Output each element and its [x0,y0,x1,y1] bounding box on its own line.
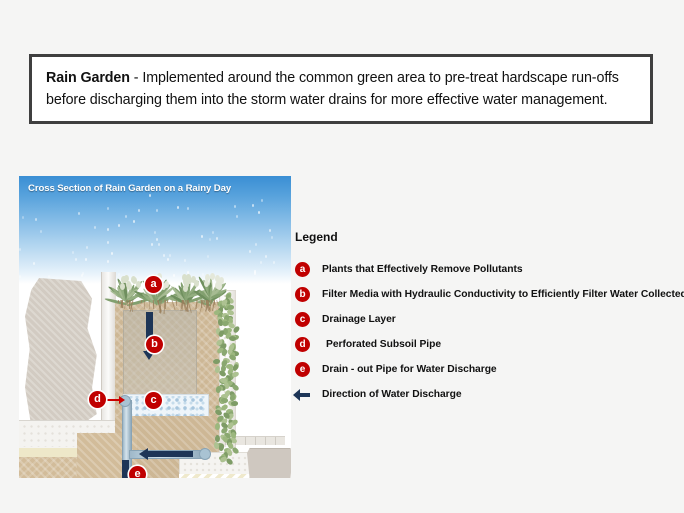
legend-item-e[interactable]: e Drain - out Pipe for Water Discharge [295,357,675,382]
callout-badge-b[interactable]: b [146,336,163,353]
arrow-left-shaft [299,393,310,397]
rain-drop [234,205,236,208]
rain-drop [169,254,171,257]
legend-label-e: Drain - out Pipe for Water Discharge [322,364,497,375]
vine-leaf [213,359,220,364]
drainage-gravel-layer [123,394,209,418]
callout-d-arrow-icon [119,396,125,404]
description-callout-box: Rain Garden - Implemented around the com… [29,54,653,124]
rain-drop [156,238,158,241]
rain-drop [125,215,127,218]
vine-leaf [214,423,221,431]
plant-root [216,300,219,305]
rain-drop [85,258,87,261]
plant-root [144,300,145,309]
rain-drop [255,243,257,246]
plant-root [117,300,118,304]
rain-drop [236,215,238,218]
filter-media-layer [123,310,197,396]
rain-drop [94,226,96,229]
drainout-arrow-shaft [122,460,129,478]
rain-drop [107,241,109,244]
arrow-left-head [293,389,300,401]
pipe-end-cap [199,448,211,460]
arrow-left-icon [295,387,310,402]
rain-drop [273,261,275,264]
cross-section-scene: a b c d e [19,268,291,478]
rain-drop [258,211,260,214]
legend-heading: Legend [295,230,675,244]
rain-drop [72,251,74,254]
rain-drop [209,238,211,241]
rain-drop [22,216,24,219]
plant-root [185,300,186,304]
legend-label-b: Filter Media with Hydraulic Conductivity… [322,289,684,300]
rain-drop [167,258,169,261]
rain-drop [184,259,186,262]
rain-drop [107,228,109,231]
rain-drop [133,220,135,223]
rain-garden-cross-section-illustration: Cross Section of Rain Garden on a Rainy … [19,176,291,478]
trailing-vines [215,292,241,460]
plant-root [121,300,122,305]
legend-item-direction[interactable]: Direction of Water Discharge [295,382,675,407]
legend-item-b[interactable]: b Filter Media with Hydraulic Conductivi… [295,282,675,307]
rain-drop [269,229,271,232]
plant-root [141,300,143,304]
rain-drop [156,209,158,212]
rain-drop [86,246,88,249]
callout-badge-e[interactable]: e [129,466,146,478]
illustration-title: Cross Section of Rain Garden on a Rainy … [28,183,231,194]
rain-drop [19,248,21,251]
description-body: - Implemented around the common green ar… [46,70,619,108]
discharge-arrow-shaft [147,451,193,457]
rain-drop [151,243,153,246]
rain-drop [35,218,37,221]
rain-drop [163,254,165,257]
legend-item-d[interactable]: d Perforated Subsoil Pipe [295,332,675,357]
callout-badge-a[interactable]: a [145,276,162,293]
rain-drop [177,206,179,209]
legend-badge-c: c [295,312,310,327]
plant-root [176,300,177,306]
rain-drop [207,255,209,258]
description-text: Rain Garden - Implemented around the com… [32,67,650,111]
discharge-arrow-head-icon [139,448,148,460]
legend-label-direction: Direction of Water Discharge [322,389,462,400]
rain-drop [33,262,35,265]
rain-drop [265,255,267,258]
rain-drop [271,236,273,239]
rain-drop [201,235,203,238]
vine-leaf [231,371,239,378]
rain-drop [138,209,140,212]
rain-drop [118,224,120,227]
legend-badge-d: d [295,337,310,352]
rain-drop [107,207,109,210]
plant-root [152,300,153,309]
legend-label-d: Perforated Subsoil Pipe [326,339,441,350]
rain-drop [78,212,80,215]
legend-item-a[interactable]: a Plants that Effectively Remove Polluta… [295,257,675,282]
rain-drop [111,252,113,255]
callout-badge-c[interactable]: c [145,392,162,409]
rain-drop [149,194,151,197]
plant-roots [117,300,221,314]
description-title: Rain Garden [46,70,130,86]
rain-drop [75,258,77,261]
legend-label-a: Plants that Effectively Remove Pollutant… [322,264,523,275]
legend-panel: Legend a Plants that Effectively Remove … [295,230,675,407]
rain-drop [260,261,262,264]
rain-drop [187,207,189,210]
vine-leaf [229,335,237,342]
plant-bloom [132,277,137,284]
rain-drop [249,250,251,253]
rain-drop [212,231,214,234]
planter-box [247,448,291,478]
plant-root [166,300,168,303]
plant-root [196,300,198,309]
legend-badge-b: b [295,287,310,302]
plant-root [149,300,150,309]
rain-drop [107,260,109,263]
rain-drop [216,237,218,240]
rain-drop [154,231,156,234]
legend-badge-e: e [295,362,310,377]
vine-leaf [232,447,240,456]
plant-bloom [183,285,188,292]
vine-leaf [215,386,222,394]
rain-drop [252,204,254,207]
legend-badge-a: a [295,262,310,277]
callout-badge-d[interactable]: d [89,391,106,408]
rain-drop [40,230,42,233]
legend-item-c[interactable]: c Drainage Layer [295,307,675,332]
rain-drop [261,199,263,202]
legend-label-c: Drainage Layer [322,314,396,325]
rain-drop [158,243,160,246]
